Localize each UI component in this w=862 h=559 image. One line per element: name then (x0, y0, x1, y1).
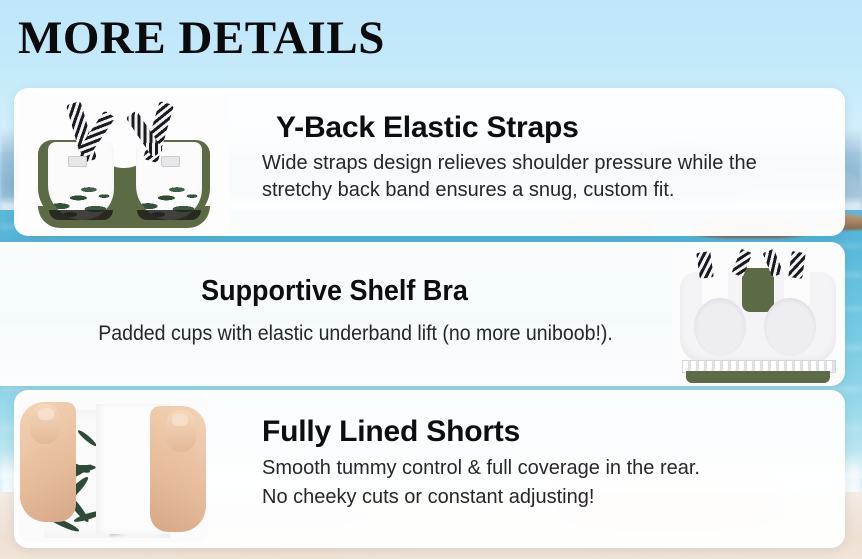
feature-image-fully-lined-shorts (18, 396, 208, 542)
bra-hem (686, 371, 830, 383)
feature-image-supportive-shelf-bra (672, 246, 844, 384)
bra-underband (49, 210, 113, 220)
infographic-canvas: MORE DETAILS Y-Back Elastic Straps Wide … (0, 0, 862, 559)
feature-title: Fully Lined Shorts (262, 414, 520, 450)
padded-cup-left (694, 298, 746, 356)
palm-frond (76, 429, 98, 448)
padded-cup-right (764, 298, 816, 356)
back-gusset (742, 268, 774, 312)
bra-underband (137, 210, 201, 220)
feature-description-line-2: No cheeky cuts or constant adjusting! (262, 483, 832, 512)
hand-right (150, 406, 206, 532)
feature-description: Padded cups with elastic underband lift … (10, 320, 701, 348)
feature-title: Y-Back Elastic Straps (276, 110, 579, 146)
strap-clip (161, 156, 180, 167)
feature-title: Supportive Shelf Bra (9, 274, 661, 308)
fingernail (172, 414, 188, 426)
page-title: MORE DETAILS (18, 8, 385, 68)
strap-clip (68, 156, 87, 167)
fingernail (38, 408, 54, 420)
feature-description: Wide straps design relieves shoulder pre… (262, 150, 822, 204)
feature-image-y-back-elastic-straps (18, 92, 230, 234)
hand-left (20, 402, 76, 522)
feature-description: Smooth tummy control & full coverage in … (262, 454, 832, 512)
feature-description-line-1: Smooth tummy control & full coverage in … (262, 454, 832, 483)
